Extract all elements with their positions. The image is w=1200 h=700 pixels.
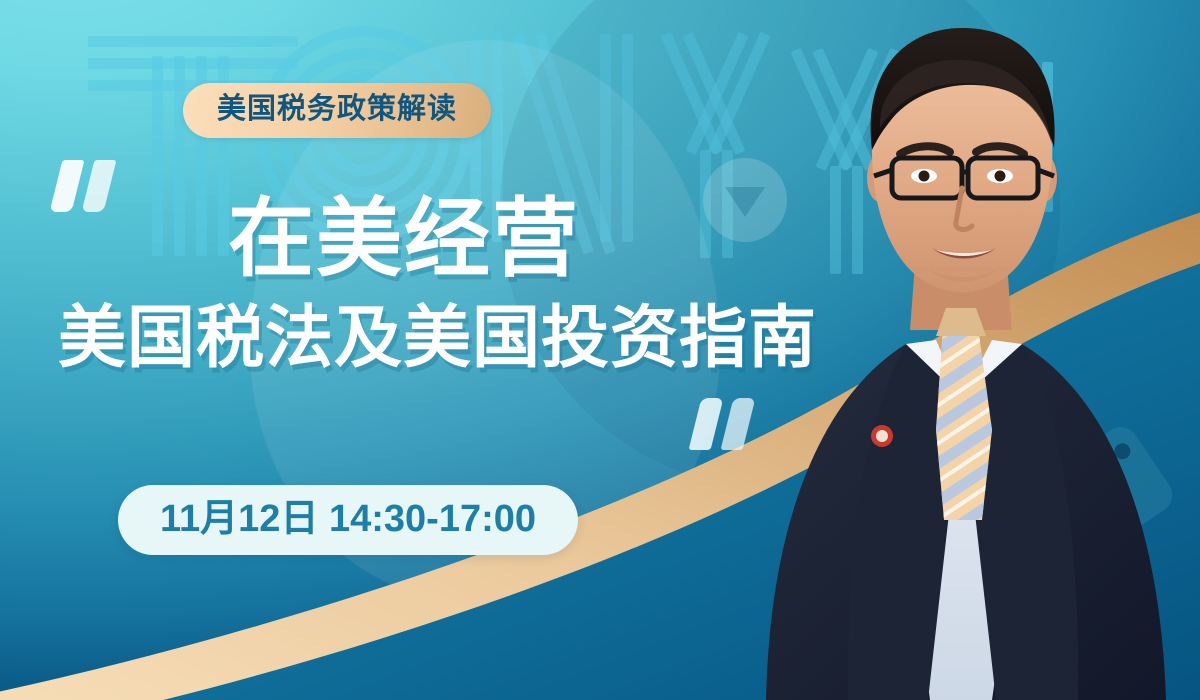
topic-badge: 美国税务政策解读: [183, 83, 491, 138]
event-datetime-pill: 11月12日 14:30-17:00: [118, 485, 578, 555]
watermark-letter-t-bar2: [88, 58, 298, 69]
headline-line-1: 在美经营: [0, 196, 780, 282]
headline-block: 在美经营 美国税法及美国投资指南: [0, 196, 780, 372]
speaker-portrait: [730, 0, 1200, 700]
watermark-letter-t-bar1: [88, 36, 298, 47]
webinar-banner: 美国税务政策解读 在美经营 美国税法及美国投资指南 11月12日 14:30-1…: [0, 0, 1200, 700]
headline-line-2: 美国税法及美国投资指南: [0, 304, 780, 372]
